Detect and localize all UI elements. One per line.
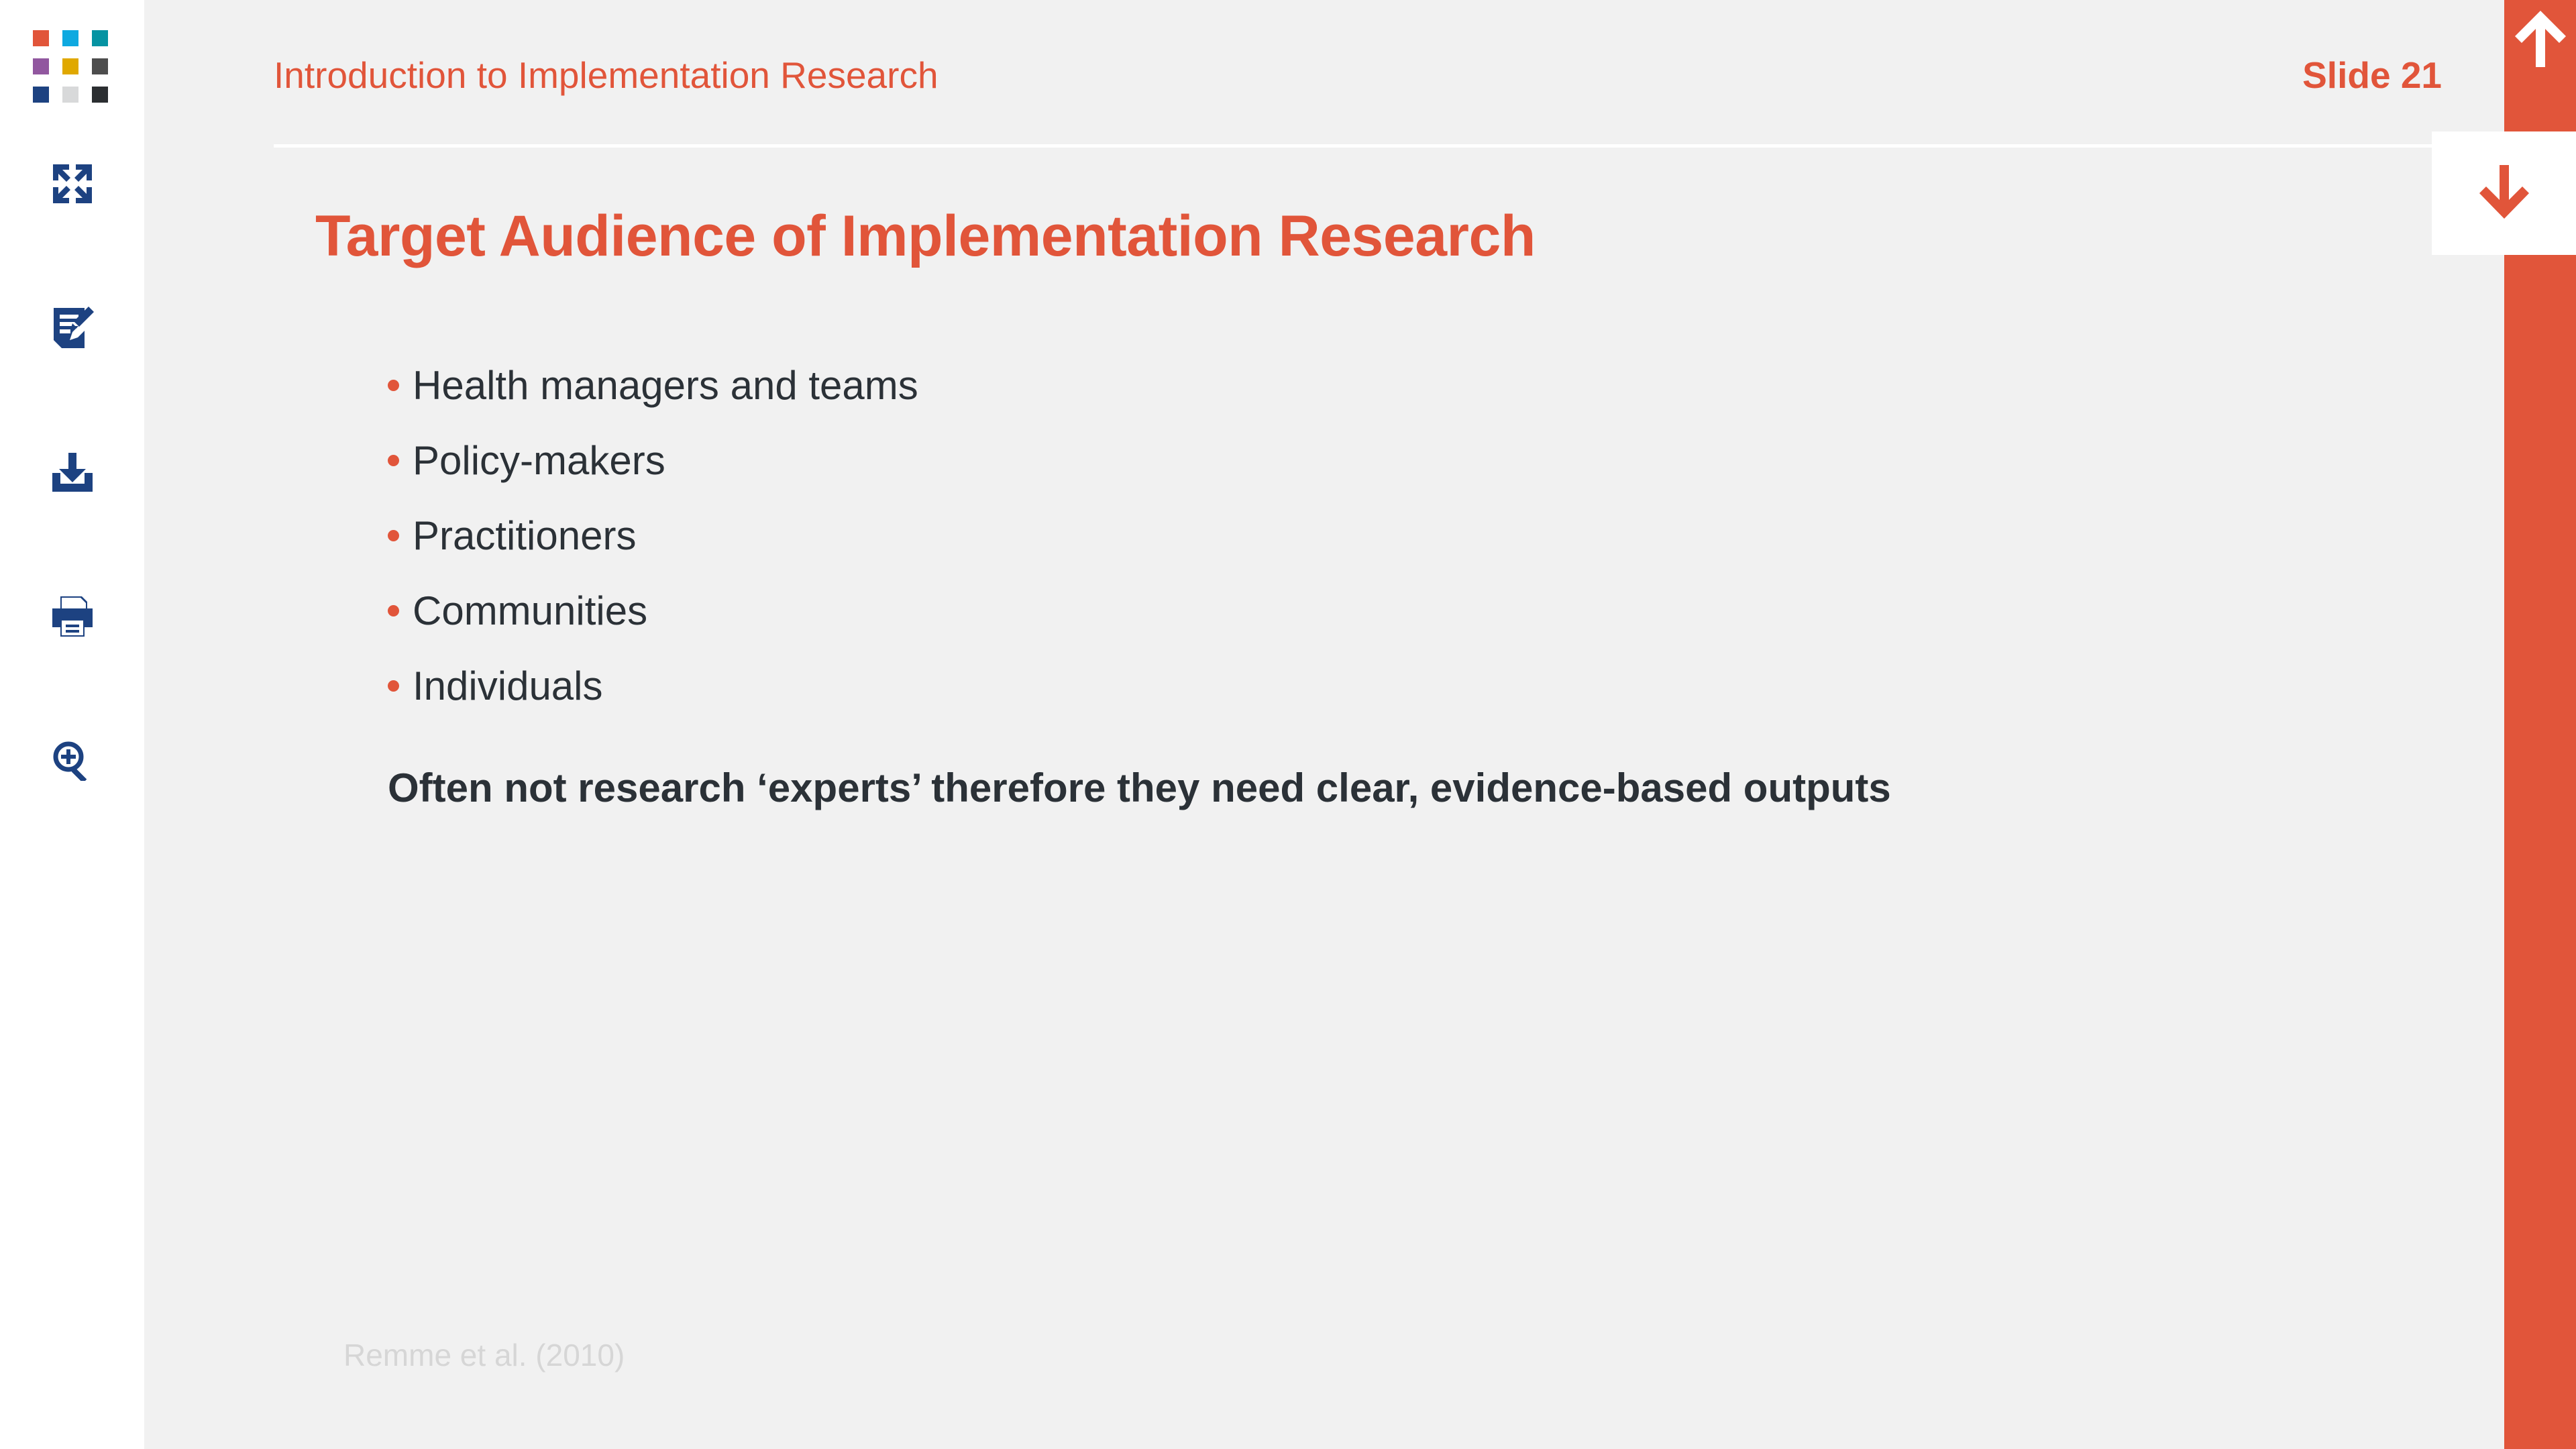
notes-edit-icon: [51, 307, 94, 350]
slide-number: Slide 21: [2302, 54, 2442, 97]
slide-header: Introduction to Implementation Research …: [274, 54, 2442, 97]
zoom-in-icon: [52, 741, 93, 781]
list-item-label: Individuals: [413, 663, 603, 709]
slide-content: Introduction to Implementation Research …: [144, 0, 2504, 1449]
bullet-dot-icon: [388, 455, 399, 466]
list-item-label: Practitioners: [413, 513, 636, 559]
bullet-dot-icon: [388, 680, 399, 692]
zoom-in-button[interactable]: [0, 724, 144, 798]
download-icon: [51, 453, 94, 492]
next-slide-button[interactable]: [2432, 131, 2576, 255]
left-toolbar: [0, 0, 144, 1449]
page-title: Target Audience of Implementation Resear…: [315, 203, 1536, 270]
download-button[interactable]: [0, 435, 144, 509]
slide-viewer-app: Introduction to Implementation Research …: [0, 0, 2576, 1449]
logo-cell-purple: [33, 58, 49, 74]
arrow-down-icon: [2479, 165, 2529, 222]
header-divider: [274, 144, 2442, 148]
print-icon: [52, 596, 93, 637]
bullet-list: Health managers and teams Policy-makers …: [388, 347, 918, 723]
color-grid-logo: [33, 30, 112, 103]
list-item-label: Health managers and teams: [413, 362, 918, 409]
list-item: Individuals: [388, 648, 918, 723]
logo-cell-black: [92, 87, 108, 103]
fullscreen-icon: [52, 163, 93, 205]
list-item: Policy-makers: [388, 423, 918, 498]
citation-text: Remme et al. (2010): [343, 1337, 625, 1373]
logo-cell-gold: [62, 58, 78, 74]
bullet-dot-icon: [388, 380, 399, 391]
key-statement: Often not research ‘experts’ therefore t…: [388, 765, 1891, 811]
list-item: Health managers and teams: [388, 347, 918, 423]
logo-cell-cyan: [62, 30, 78, 46]
list-item: Communities: [388, 573, 918, 648]
fullscreen-button[interactable]: [0, 147, 144, 221]
logo-cell-silver: [62, 87, 78, 103]
logo-cell-navy: [33, 87, 49, 103]
logo-cell-teal: [92, 30, 108, 46]
bullet-dot-icon: [388, 530, 399, 541]
list-item-label: Policy-makers: [413, 437, 665, 484]
list-item-label: Communities: [413, 588, 647, 634]
logo-cell-orange: [33, 30, 49, 46]
logo-cell-gray: [92, 58, 108, 74]
arrow-up-icon: [2515, 11, 2566, 70]
notes-button[interactable]: [0, 291, 144, 365]
list-item: Practitioners: [388, 498, 918, 573]
bullet-dot-icon: [388, 605, 399, 616]
print-button[interactable]: [0, 580, 144, 653]
deck-title: Introduction to Implementation Research: [274, 54, 938, 97]
